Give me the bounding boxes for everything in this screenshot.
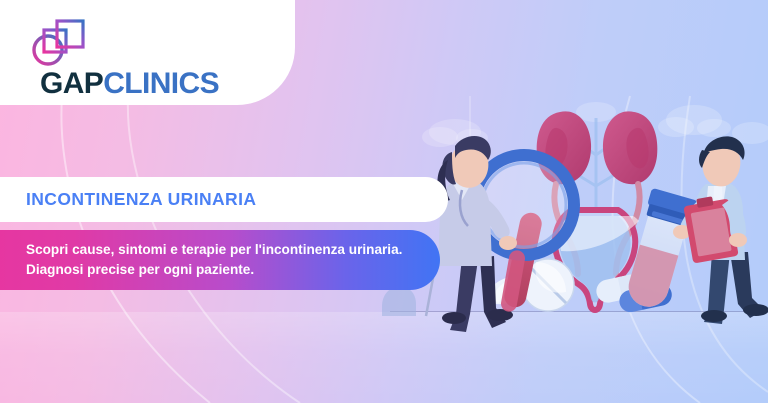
- page-title-pill: INCONTINENZA URINARIA: [0, 177, 448, 222]
- male-doctor: [673, 136, 768, 324]
- subtitle-text: Scopri cause, sintomi e terapie per l'in…: [26, 240, 422, 279]
- brand-name-gap: GAP: [40, 67, 103, 100]
- brand-name-clinics: CLINICS: [103, 67, 219, 100]
- page-title: INCONTINENZA URINARIA: [26, 189, 256, 210]
- brand-wordmark: GAPCLINICS: [40, 67, 219, 101]
- gapclinics-logo-icon: [30, 16, 92, 72]
- subtitle-banner: Scopri cause, sintomi e terapie per l'in…: [0, 230, 440, 290]
- hero-banner: GAPCLINICS INCONTINENZA URINARIA Scopri …: [0, 0, 768, 403]
